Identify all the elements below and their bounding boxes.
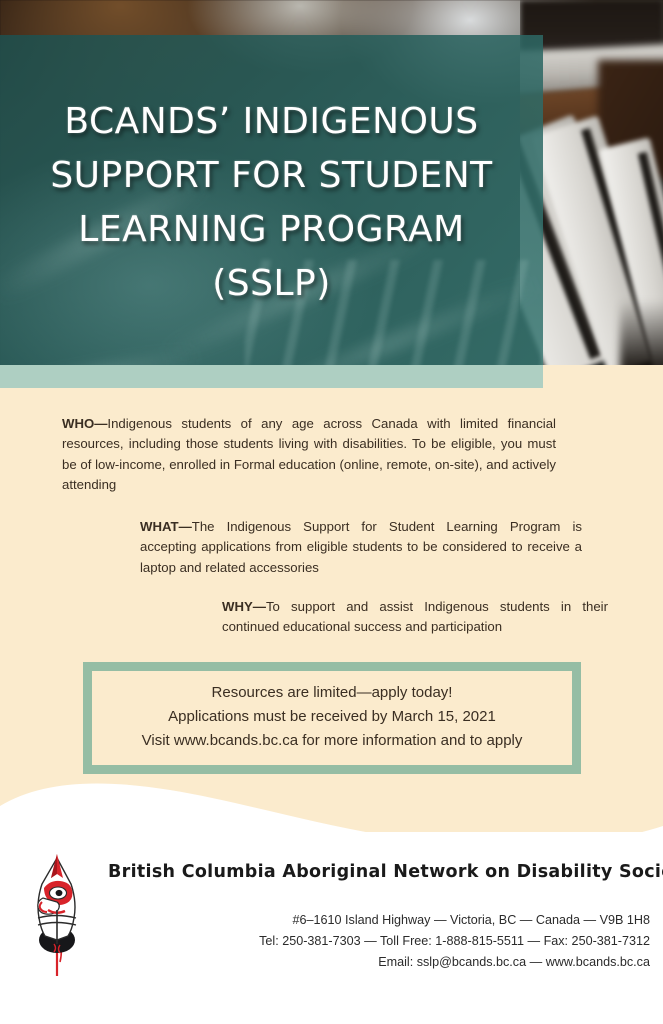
cta-line-2: Applications must be received by March 1… — [98, 705, 566, 729]
section-why-text: To support and assist Indigenous student… — [222, 599, 608, 634]
bcands-eagle-logo — [26, 848, 90, 980]
hero-photo: BCANDS’ INDIGENOUS SUPPORT FOR STUDENT L… — [0, 0, 663, 388]
section-why: WHY—To support and assist Indigenous stu… — [222, 597, 608, 638]
section-who-label: WHO — [62, 416, 94, 431]
section-what-label: WHAT — [140, 519, 179, 534]
section-who: WHO—Indigenous students of any age acros… — [62, 414, 556, 496]
contact-email-web[interactable]: Email: sslp@bcands.bc.ca — www.bcands.bc… — [150, 952, 650, 973]
cta-line-1: Resources are limited—apply today! — [98, 681, 566, 705]
section-what: WHAT—The Indigenous Support for Student … — [140, 517, 582, 578]
cream-corner-fill — [543, 365, 663, 388]
organization-name: British Columbia Aboriginal Network on D… — [108, 862, 648, 882]
section-what-dash: — — [179, 519, 192, 534]
section-who-text: Indigenous students of any age across Ca… — [62, 416, 556, 492]
cta-line-3[interactable]: Visit www.bcands.bc.ca for more informat… — [98, 729, 566, 753]
section-who-dash: — — [94, 416, 107, 431]
eagle-logo-icon — [26, 848, 90, 980]
contact-phones: Tel: 250-381-7303 — Toll Free: 1-888-815… — [150, 931, 650, 952]
contact-block: #6–1610 Island Highway — Victoria, BC — … — [150, 910, 650, 973]
call-to-action-box: Resources are limited—apply today! Appli… — [83, 662, 581, 774]
poster-title: BCANDS’ INDIGENOUS SUPPORT FOR STUDENT L… — [0, 95, 543, 311]
poster-root: BCANDS’ INDIGENOUS SUPPORT FOR STUDENT L… — [0, 0, 663, 1024]
section-why-label: WHY — [222, 599, 253, 614]
hero-bottom-band — [0, 365, 543, 388]
contact-address: #6–1610 Island Highway — Victoria, BC — … — [150, 910, 650, 931]
section-why-dash: — — [253, 599, 266, 614]
section-what-text: The Indigenous Support for Student Learn… — [140, 519, 582, 575]
